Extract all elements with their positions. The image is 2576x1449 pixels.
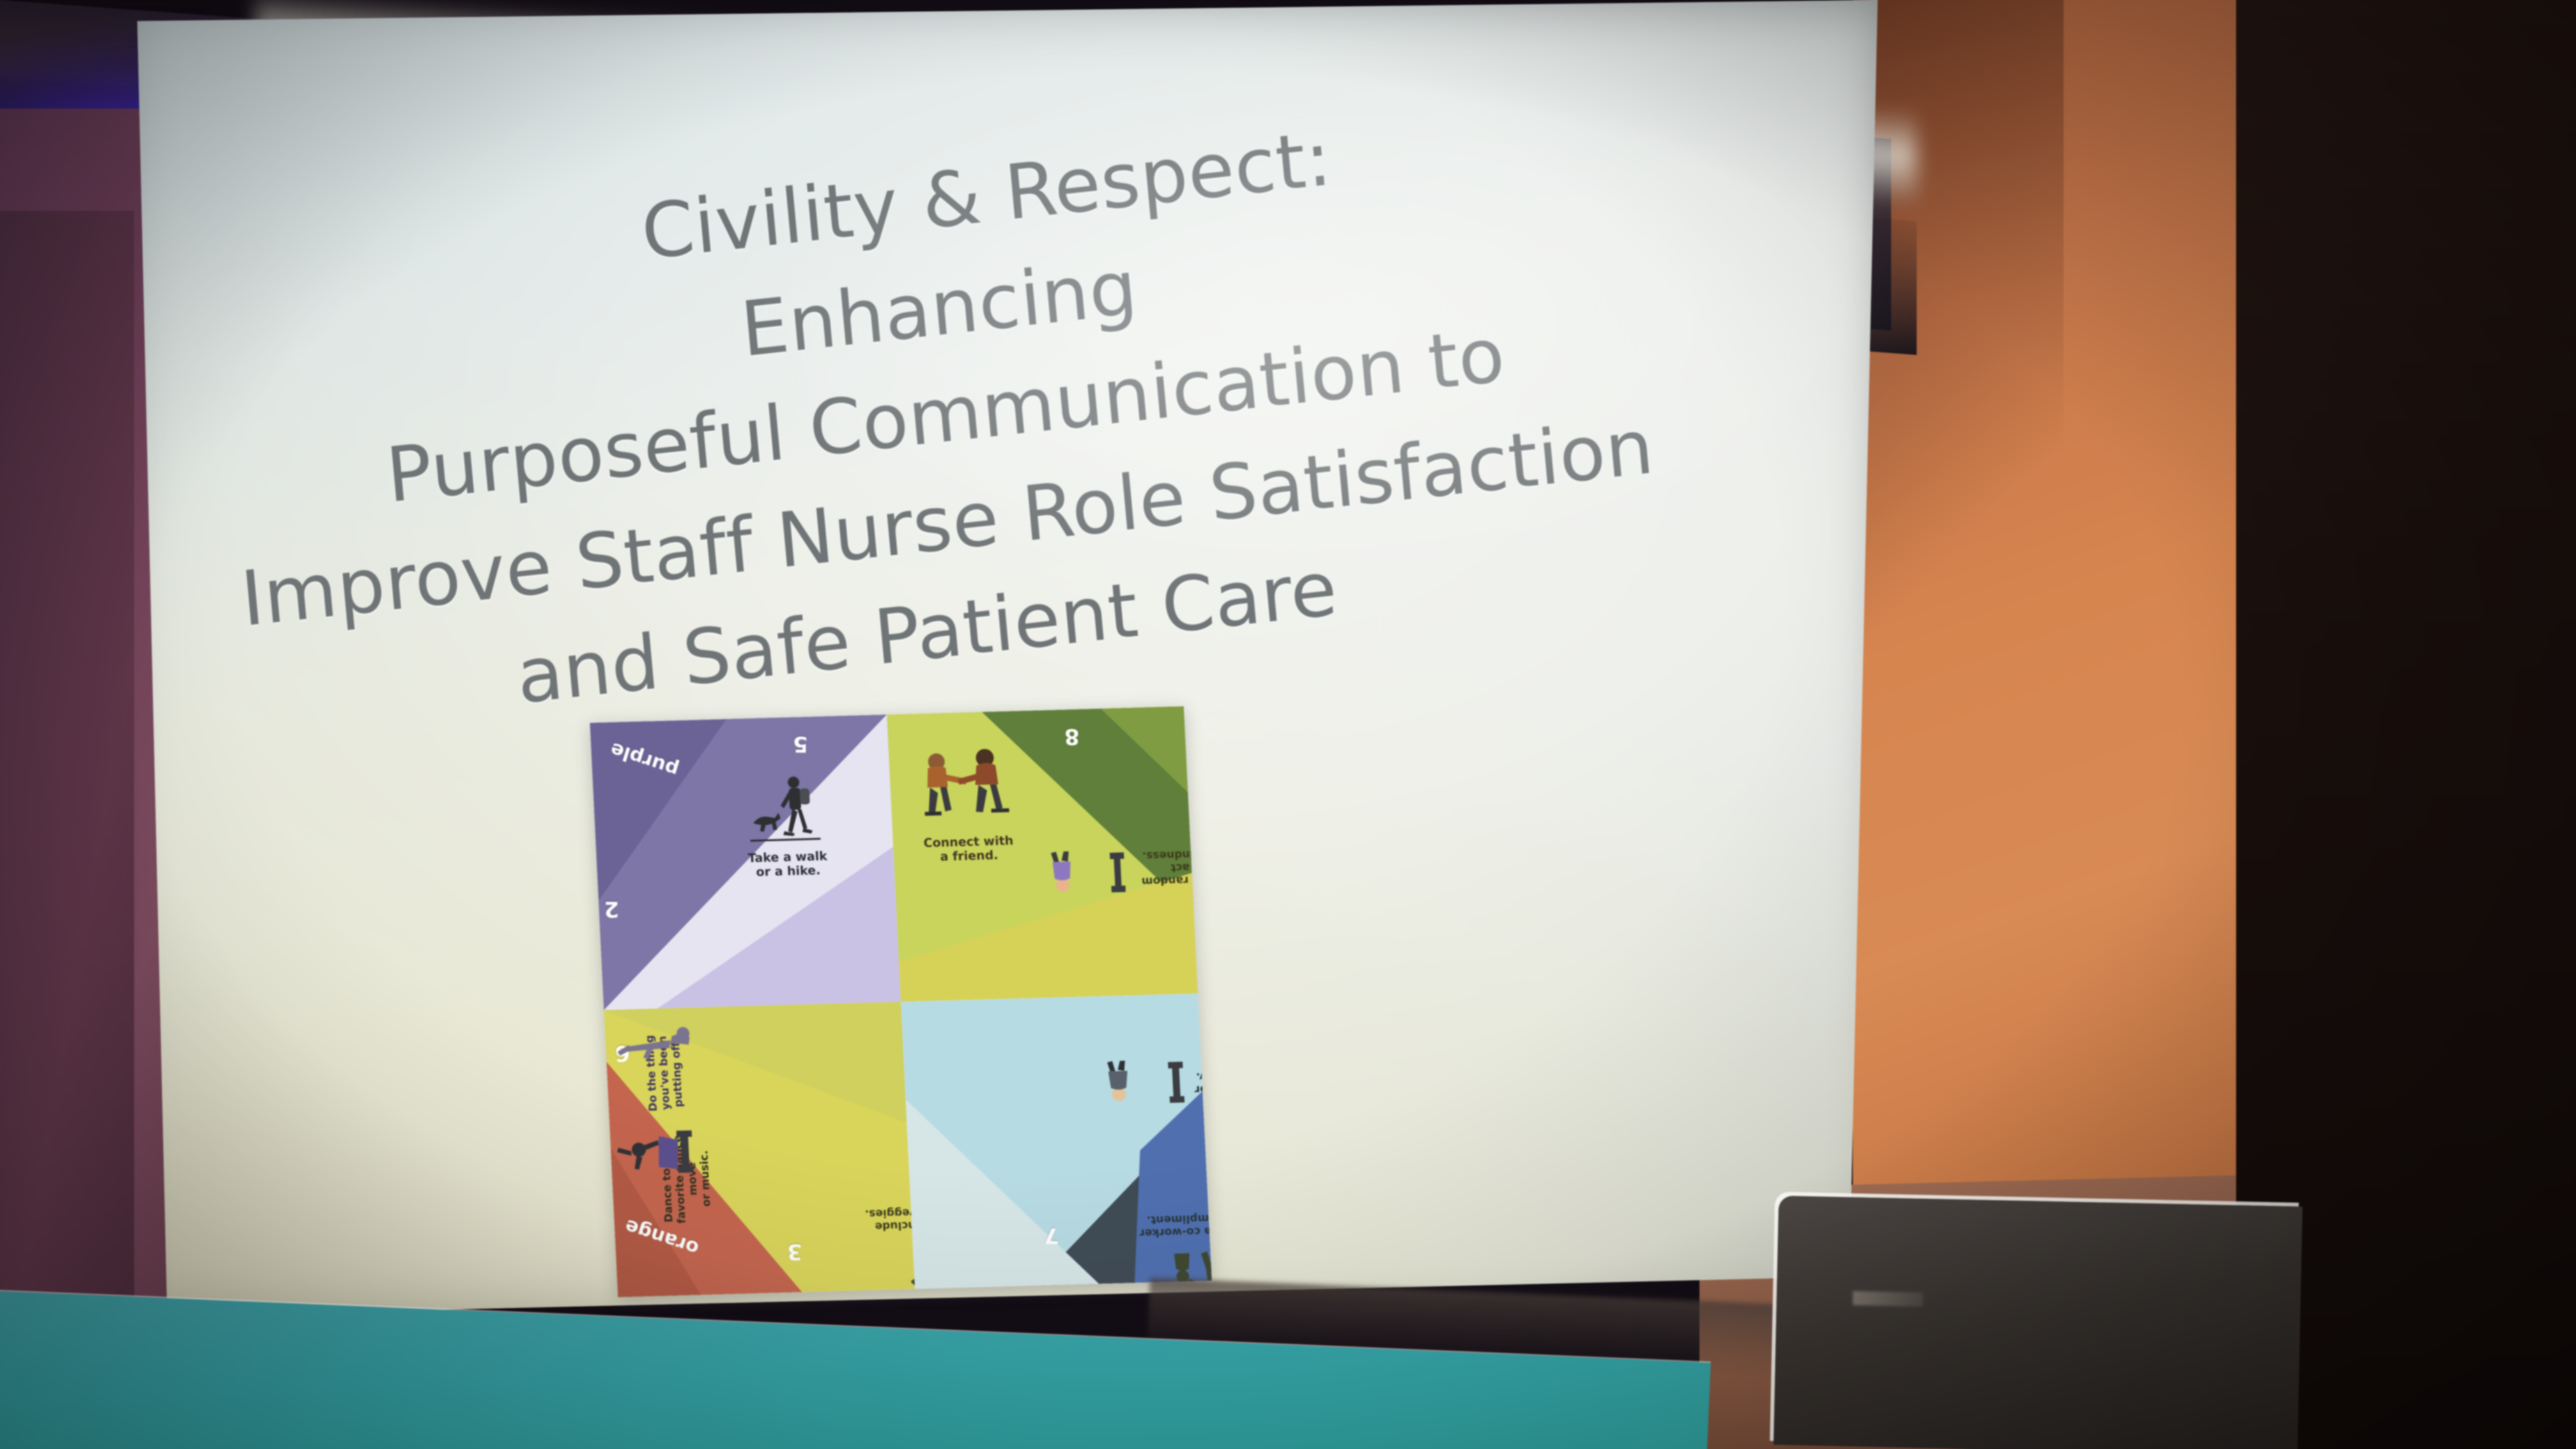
number-5: 5 xyxy=(793,731,808,756)
two-people-talking-icon xyxy=(913,744,1025,831)
quadrant-top-left: purple 5 2 xyxy=(590,714,901,1010)
person-talking-icon xyxy=(1101,1058,1186,1105)
caption-connect: Connect with a friend. xyxy=(910,833,1027,865)
quadrant-top-right: 8 xyxy=(887,706,1198,1002)
quadrant-bottom-right: 7 Tell a joke or f xyxy=(901,993,1212,1289)
caption-walk-hike: Take a walk or a hike. xyxy=(733,848,843,880)
caption-breakfast: Breakfast: include protein, and veggies. xyxy=(857,1204,915,1233)
laptop-screen xyxy=(1774,1195,2303,1449)
person-dancing-icon xyxy=(612,1122,717,1185)
quadrant-bottom-left: orange 6 3 Do the thing you've been putt… xyxy=(604,1002,915,1298)
left-wall-shadow xyxy=(0,211,134,1449)
number-8: 8 xyxy=(1064,723,1080,749)
number-2: 2 xyxy=(604,896,619,922)
self-care-fortune-teller-image: purple 5 2 xyxy=(590,706,1212,1297)
number-7: 7 xyxy=(1044,1222,1059,1248)
person-walking-dog-icon xyxy=(734,771,834,850)
person-reclining-icon xyxy=(608,1014,707,1068)
caption-compliment: Give a co-worker a compliment. xyxy=(1120,1210,1212,1239)
person-standing-icon xyxy=(1048,848,1127,895)
laptop-logo xyxy=(1853,1291,1923,1307)
photo-of-presentation-screen: Civility & Respect: Enhancing Purposeful… xyxy=(0,0,2576,1449)
number-3: 3 xyxy=(787,1239,802,1264)
caption-kindness: Do a random act of kindness. xyxy=(1131,847,1198,888)
